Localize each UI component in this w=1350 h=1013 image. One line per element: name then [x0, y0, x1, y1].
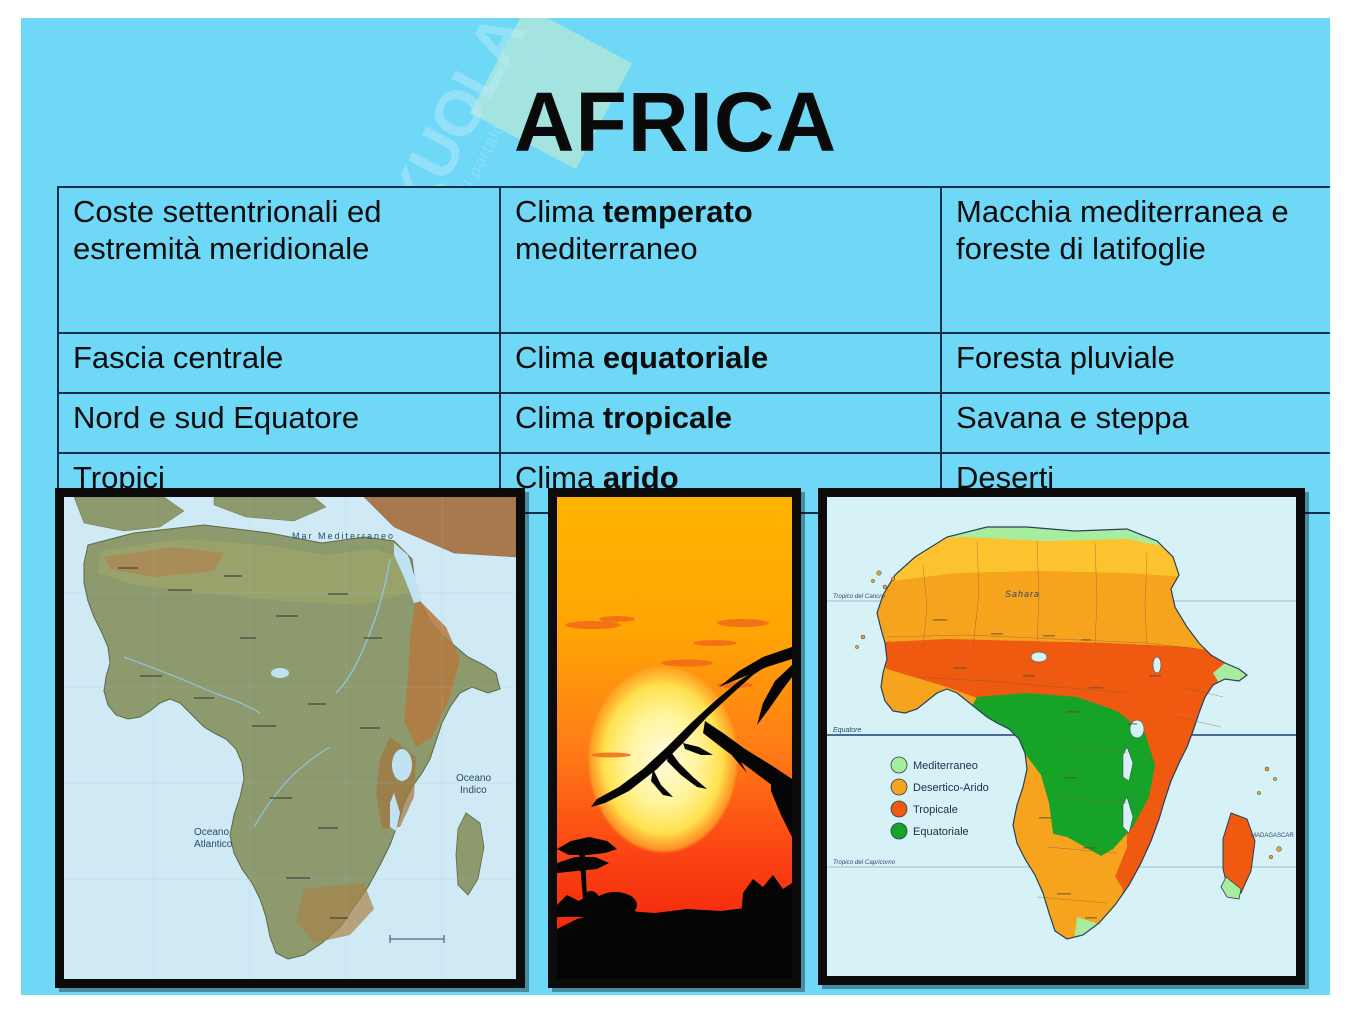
label-mediterranean-sea: Mar Mediterraneo [292, 531, 395, 541]
climate-prefix: Clima [515, 400, 603, 435]
climate-keyword: tropicale [603, 400, 732, 435]
cell-climate: Clima tropicale [500, 393, 941, 453]
label-equator: Equatore [833, 727, 862, 734]
climate-suffix: mediterraneo [515, 231, 698, 266]
table-row: Coste settentrionali ed estremità meridi… [58, 187, 1330, 333]
cell-climate: Clima equatoriale [500, 333, 941, 393]
savanna-sunset-figure [548, 488, 801, 988]
legend-label-equatoriale: Equatoriale [913, 826, 969, 838]
cell-zone: Fascia centrale [58, 333, 500, 393]
cell-vegetation: Macchia mediterranea e foreste di latifo… [941, 187, 1330, 333]
svg-text:Indico: Indico [460, 785, 487, 796]
physical-map-image: Mar Mediterraneo Oceano Indico Oceano At… [64, 497, 516, 979]
cell-zone: Coste settentrionali ed estremità meridi… [58, 187, 500, 333]
cell-vegetation: Foresta pluviale [941, 333, 1330, 393]
climate-prefix: Clima [515, 194, 603, 229]
label-atlantic-ocean: Oceano [194, 827, 229, 838]
physical-map-figure: Mar Mediterraneo Oceano Indico Oceano At… [55, 488, 525, 988]
climate-keyword: temperato [603, 194, 753, 229]
legend-item: Tropicale [891, 801, 958, 817]
climate-keyword: equatoriale [603, 340, 768, 375]
legend-label-tropicale: Tropicale [913, 804, 958, 816]
cell-climate: Clima temperato mediterraneo [500, 187, 941, 333]
table-row: Nord e sud Equatore Clima tropicale Sava… [58, 393, 1330, 453]
label-madagascar: MADAGASCAR [1251, 833, 1294, 839]
svg-text:Atlantico: Atlantico [194, 839, 233, 850]
legend-item: Equatoriale [891, 823, 969, 839]
climate-prefix: Clima [515, 340, 603, 375]
climate-map-image: Tropico del Cancro Equatore Tropico del … [827, 497, 1296, 976]
slide-canvas: SKUOLA .net | Il portale per studenti AF… [21, 18, 1330, 995]
savanna-sunset-image [557, 497, 792, 979]
legend-item: Mediterraneo [891, 757, 978, 773]
legend-label-mediterraneo: Mediterraneo [913, 760, 978, 772]
label-tropic-capricorn: Tropico del Capricorno [833, 859, 896, 866]
climate-map-figure: Tropico del Cancro Equatore Tropico del … [818, 488, 1305, 985]
label-indian-ocean: Oceano [456, 773, 491, 784]
climate-table: Coste settentrionali ed estremità meridi… [57, 186, 1330, 514]
cell-vegetation: Savana e steppa [941, 393, 1330, 453]
page-title: AFRICA [21, 80, 1330, 164]
label-sahara: Sahara [1005, 589, 1040, 599]
cell-zone: Nord e sud Equatore [58, 393, 500, 453]
legend-label-desertico-arido: Desertico-Arido [913, 782, 989, 794]
label-tropic-cancer: Tropico del Cancro [833, 593, 885, 600]
table-row: Fascia centrale Clima equatoriale Forest… [58, 333, 1330, 393]
